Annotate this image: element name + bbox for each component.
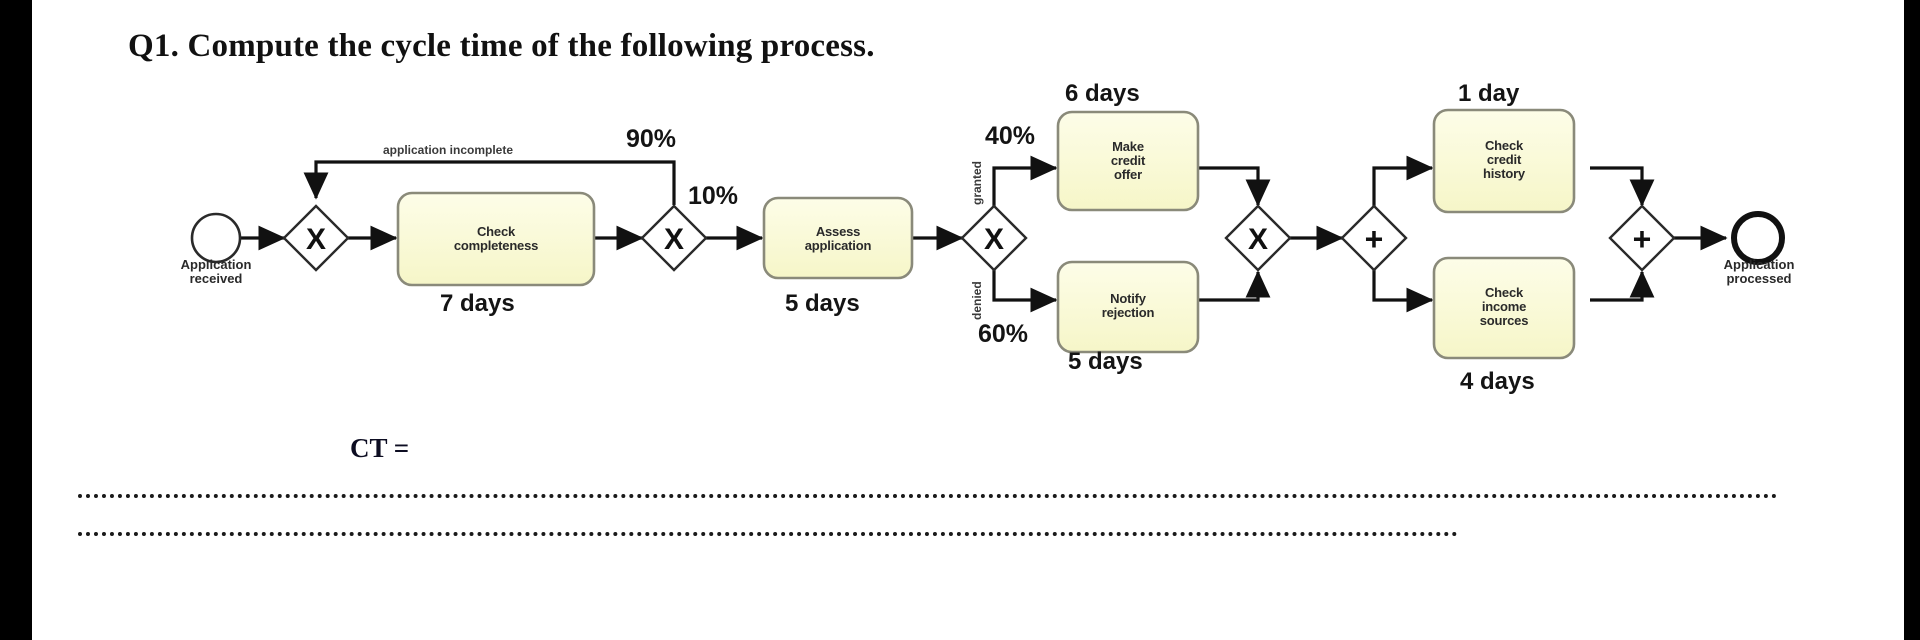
svg-text:+: +: [1633, 221, 1652, 257]
cycle-time-answer-label: CT =: [350, 433, 409, 464]
task-label-check-credit-history: Check credit history: [1434, 139, 1574, 181]
svg-text:X: X: [664, 223, 684, 256]
task-label-make-credit-offer: Make credit offer: [1058, 140, 1198, 182]
duration-label-check-completeness: 7 days: [440, 290, 515, 318]
gateway-and-join-checks: +: [1610, 206, 1674, 270]
flow-denied-to-notifyrejection: [994, 270, 1056, 300]
svg-text:X: X: [306, 223, 326, 256]
flow-creditcheck-to-andjoin: [1590, 168, 1642, 205]
gateway-xor-split-decision: X: [962, 206, 1026, 270]
start-event-circle: [192, 214, 240, 262]
task-label-assess-application: Assess application: [764, 225, 912, 253]
task-label-check-completeness: Check completeness: [398, 225, 594, 253]
gateway-xor-split-completeness: X: [642, 206, 706, 270]
duration-label-make-credit-offer: 6 days: [1065, 80, 1140, 108]
task-label-check-income-sources: Check income sources: [1434, 286, 1574, 328]
answer-blank-line-1[interactable]: [78, 486, 1778, 498]
probability-label-complete: 10%: [688, 182, 738, 211]
svg-text:X: X: [984, 223, 1004, 256]
start-event-label: Application received: [144, 258, 288, 286]
task-label-notify-rejection: Notify rejection: [1058, 292, 1198, 320]
duration-label-notify-rejection: 5 days: [1068, 348, 1143, 376]
flow-label-denied: denied: [970, 281, 984, 320]
end-event-label: Application processed: [1686, 258, 1832, 286]
flow-granted-to-creditoffer: [994, 168, 1056, 206]
worksheet-page: Q1. Compute the cycle time of the follow…: [0, 0, 1920, 640]
probability-label-incomplete: 90%: [626, 125, 676, 154]
flow-label-application-incomplete: application incomplete: [383, 143, 513, 157]
duration-label-check-credit-history: 1 day: [1458, 80, 1519, 108]
svg-text:X: X: [1248, 223, 1268, 256]
flow-creditoffer-to-xorjoin2: [1198, 168, 1258, 205]
flow-andsplit-to-incomecheck: [1374, 270, 1432, 300]
bpmn-process-diagram: X X X X +: [0, 0, 1920, 640]
duration-label-check-income-sources: 4 days: [1460, 368, 1535, 396]
svg-text:+: +: [1365, 221, 1384, 257]
probability-label-denied: 60%: [978, 320, 1028, 349]
probability-label-granted: 40%: [985, 122, 1035, 151]
bpmn-canvas: X X X X +: [0, 0, 1920, 640]
duration-label-assess-application: 5 days: [785, 290, 860, 318]
flow-notifyrejection-to-xorjoin2: [1198, 272, 1258, 300]
gateway-and-split-checks: +: [1342, 206, 1406, 270]
flow-andsplit-to-creditcheck: [1374, 168, 1432, 206]
gateway-xor-join-loop: X: [284, 206, 348, 270]
end-event-circle: [1734, 214, 1782, 262]
flow-label-granted: granted: [970, 161, 984, 205]
gateway-xor-join-decision: X: [1226, 206, 1290, 270]
flow-incomecheck-to-andjoin: [1590, 272, 1642, 300]
answer-blank-line-2[interactable]: [78, 524, 1458, 536]
